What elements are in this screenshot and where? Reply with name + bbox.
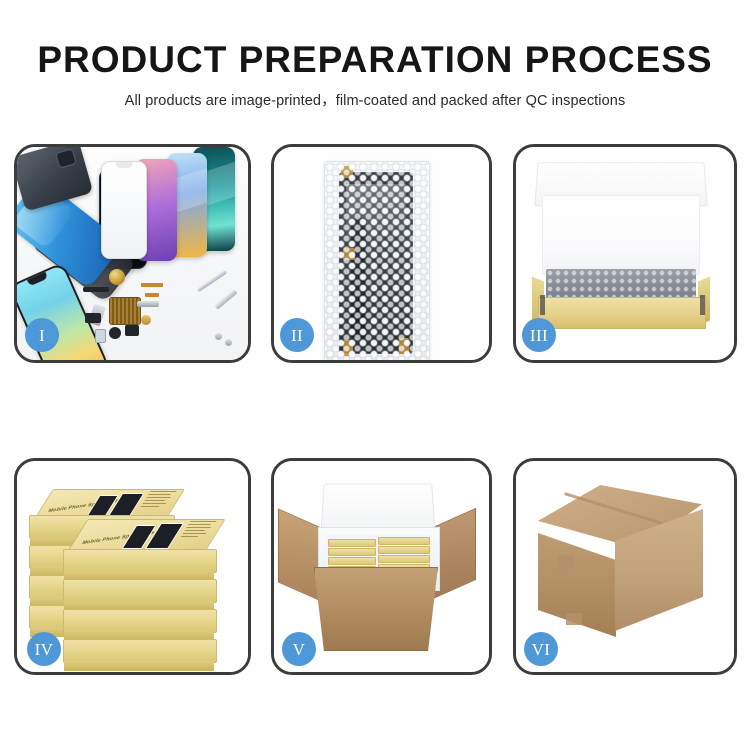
packed-yellow-box xyxy=(378,546,430,554)
step-panel-3[interactable]: III xyxy=(513,144,737,363)
spare-part-connector xyxy=(85,313,101,323)
step-panel-4[interactable]: Mobile Phone Spare Parts Mobile Phone Sp… xyxy=(14,458,251,675)
step-badge-3: III xyxy=(522,318,556,352)
spare-part-button xyxy=(109,327,121,339)
spare-part-screw xyxy=(225,339,232,346)
step-badge-1: I xyxy=(25,318,59,352)
spare-part-coin xyxy=(109,269,125,285)
phone-white-front-glass xyxy=(101,161,147,259)
packed-yellow-box xyxy=(378,537,430,545)
stacked-box xyxy=(63,639,217,663)
box-front-panel xyxy=(538,297,706,329)
spare-part-screw xyxy=(141,315,151,325)
carton-tape-lower xyxy=(566,613,582,625)
packed-yellow-box xyxy=(328,539,376,547)
step-badge-2: II xyxy=(280,318,314,352)
box-corner-tab xyxy=(540,295,545,315)
step-panel-5[interactable]: V xyxy=(271,458,492,675)
step-badge-4: IV xyxy=(27,632,61,666)
foam-sheet xyxy=(542,195,700,275)
step-panel-2[interactable]: II xyxy=(271,144,492,363)
carton-tape-upper xyxy=(558,555,574,569)
spare-part-camera xyxy=(125,325,139,336)
step-panel-6[interactable]: VI xyxy=(513,458,737,675)
step-badge-5: V xyxy=(282,632,316,666)
spare-part-speaker xyxy=(83,287,109,292)
stacked-box xyxy=(63,609,217,633)
camera-module-icon xyxy=(55,148,77,168)
carton-body xyxy=(314,567,438,651)
packed-yellow-box xyxy=(378,555,430,563)
spare-part-flex-cable xyxy=(141,283,163,287)
stacked-box xyxy=(63,579,217,603)
packed-yellow-box xyxy=(328,548,376,556)
stacked-box xyxy=(63,549,217,573)
packed-yellow-box xyxy=(328,557,376,565)
process-steps-grid: I II xyxy=(0,0,750,750)
phone-notch xyxy=(116,162,133,168)
product-preparation-poster: PRODUCT PREPARATION PROCESS All products… xyxy=(0,0,750,750)
step-badge-6: VI xyxy=(524,632,558,666)
spare-part-shield xyxy=(137,301,159,307)
spare-part-sim-tray xyxy=(95,329,106,343)
bubble-wrap-bag xyxy=(324,161,430,360)
bubble-texture xyxy=(325,162,429,360)
spare-part-screw xyxy=(215,333,222,340)
box-corner-tab xyxy=(700,295,705,315)
spare-part-flex-cable xyxy=(145,293,159,297)
step-panel-1[interactable]: I xyxy=(14,144,251,363)
